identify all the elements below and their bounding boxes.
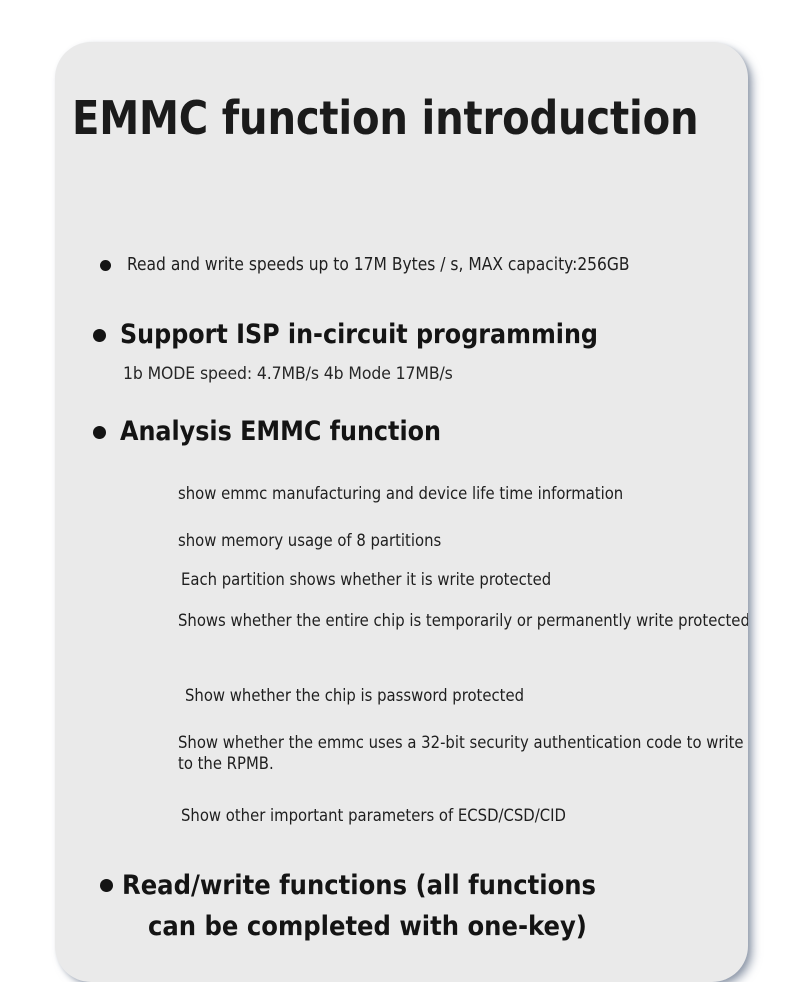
final-heading-line1: Read/write functions (all functions — [122, 865, 596, 906]
page-title: EMMC function introduction — [72, 92, 698, 144]
detail-line: Show other important parameters of ECSD/… — [181, 805, 748, 826]
section-heading-analysis-label: Analysis EMMC function — [120, 416, 441, 448]
bullet-dot-icon — [93, 426, 106, 439]
bullet-dot-icon — [100, 879, 113, 892]
section-heading-analysis: Analysis EMMC function — [93, 416, 441, 448]
intro-bullet-text: Read and write speeds up to 17M Bytes / … — [127, 254, 630, 276]
info-card: EMMC function introduction Read and writ… — [55, 42, 748, 982]
section-heading-isp-label: Support ISP in-circuit programming — [120, 319, 598, 351]
slide-root: EMMC function introduction Read and writ… — [0, 0, 800, 936]
info-card-content: EMMC function introduction Read and writ… — [55, 42, 748, 982]
detail-line: Show whether the chip is password protec… — [185, 685, 748, 706]
detail-line: Show whether the emmc uses a 32-bit secu… — [178, 732, 748, 774]
section-caption-isp: 1b MODE speed: 4.7MB/s 4b Mode 17MB/s — [123, 363, 453, 385]
detail-line: Each partition shows whether it is write… — [181, 569, 748, 590]
detail-line: Shows whether the entire chip is tempora… — [178, 610, 748, 631]
intro-bullet-row: Read and write speeds up to 17M Bytes / … — [100, 254, 637, 276]
detail-line: show emmc manufacturing and device life … — [178, 483, 748, 504]
bullet-dot-icon — [100, 260, 111, 271]
final-heading: Read/write functions (all functions can … — [100, 865, 596, 947]
section-heading-isp: Support ISP in-circuit programming — [93, 319, 598, 351]
detail-line: show memory usage of 8 partitions — [178, 530, 748, 551]
final-heading-line2: can be completed with one-key) — [148, 906, 596, 947]
bullet-dot-icon — [93, 329, 106, 342]
